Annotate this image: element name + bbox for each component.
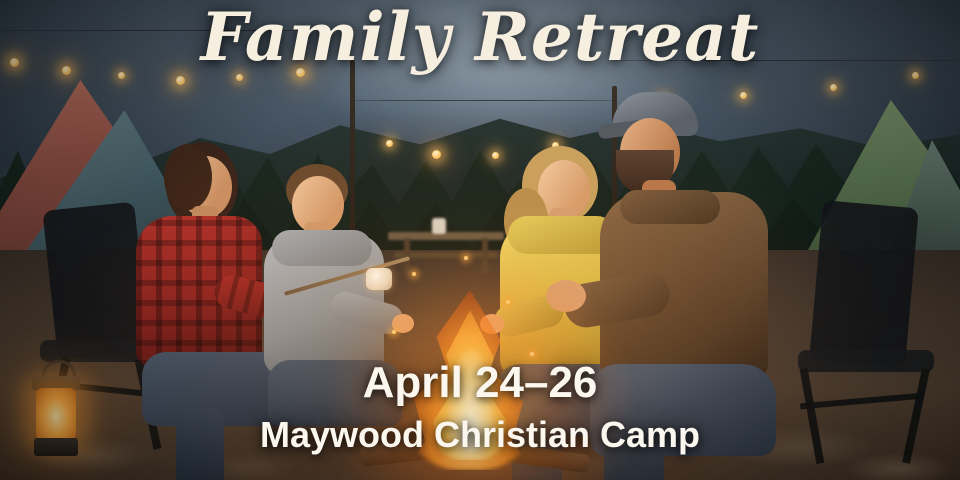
fire-ember (530, 352, 534, 356)
string-light-bulb (492, 152, 499, 159)
string-light-bulb (176, 76, 185, 85)
father-collar (620, 190, 720, 224)
string-light-wire-1 (0, 30, 360, 31)
fire-ember (464, 256, 468, 260)
string-light-bulb (296, 68, 305, 77)
string-light-bulb (10, 58, 19, 67)
camp-retreat-poster: Family Retreat April 24–26 Maywood Chris… (0, 0, 960, 480)
person-father (598, 92, 828, 472)
string-light-bulb (62, 66, 71, 75)
camp-lantern (28, 360, 84, 470)
mother-hair-front (164, 144, 212, 210)
fire-ember (392, 330, 396, 334)
string-light-bulb (830, 84, 837, 91)
fire-ember (412, 272, 416, 276)
fire-ember (506, 300, 510, 304)
string-light-wire-3 (612, 60, 960, 61)
mother-lower-leg (176, 408, 224, 480)
string-light-bulb (236, 74, 243, 81)
lantern-glass (36, 388, 76, 440)
string-light-bulb (386, 140, 393, 147)
string-light-bulb (912, 72, 919, 79)
string-light-bulb (432, 150, 441, 159)
string-light-bulb (118, 72, 125, 79)
string-light-wire-2 (352, 100, 614, 101)
lantern-base (34, 438, 78, 456)
